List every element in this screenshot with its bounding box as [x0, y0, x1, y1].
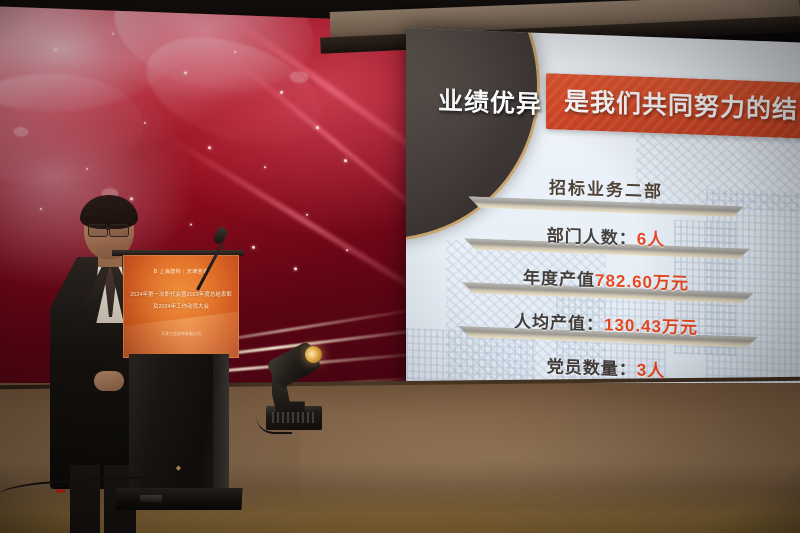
row-value: 130.43 [604, 315, 662, 336]
row-label: 部门人数： [547, 226, 637, 248]
row-value: 3 [637, 360, 647, 379]
slide-decorative-circle [406, 28, 540, 247]
row-unit: 万元 [662, 317, 698, 337]
row-value: 782.60 [595, 271, 653, 292]
row-unit: 人 [647, 230, 665, 250]
row-unit: 万元 [653, 273, 689, 293]
floor-cable-marker [56, 489, 65, 493]
conference-stage-photo: 业绩优异 是我们共同努力的结 招标业务二部 部门人数：6人 年度产值782.60… [0, 0, 800, 533]
floor-light-sheen [300, 383, 800, 503]
logo-text: 上海建科 [159, 269, 181, 275]
moving-head-stage-light [262, 344, 324, 434]
row-label: 党员数量： [547, 357, 637, 379]
row-label: 人均产值： [514, 312, 604, 334]
glasses-bridge [106, 228, 110, 230]
glasses-icon [88, 224, 108, 237]
slide-title-left: 业绩优异 [438, 81, 542, 121]
podium-event-title-line1: 2024年第一次职代会暨2023年度总结表彰 [124, 290, 238, 298]
glasses-icon [109, 224, 129, 237]
row-label: 年度产值 [523, 268, 595, 290]
podium-body: ◆ [129, 354, 229, 490]
podium-sign-sheen [123, 308, 239, 358]
logo-mark-icon: B [154, 269, 158, 275]
light-power-cable [256, 416, 292, 434]
logo-separator: | [183, 269, 185, 275]
podium-sign-board: B 上海建科|天津咨询 2024年第一次职代会暨2023年度总结表彰 及2024… [123, 255, 239, 358]
podium-logo: B 上海建科|天津咨询 [124, 268, 238, 275]
podium-event-title-line2: 及2024年工作动员大会 [124, 302, 238, 310]
row-value: 6 [637, 229, 647, 248]
podium-emblem-icon: ◆ [129, 464, 229, 472]
